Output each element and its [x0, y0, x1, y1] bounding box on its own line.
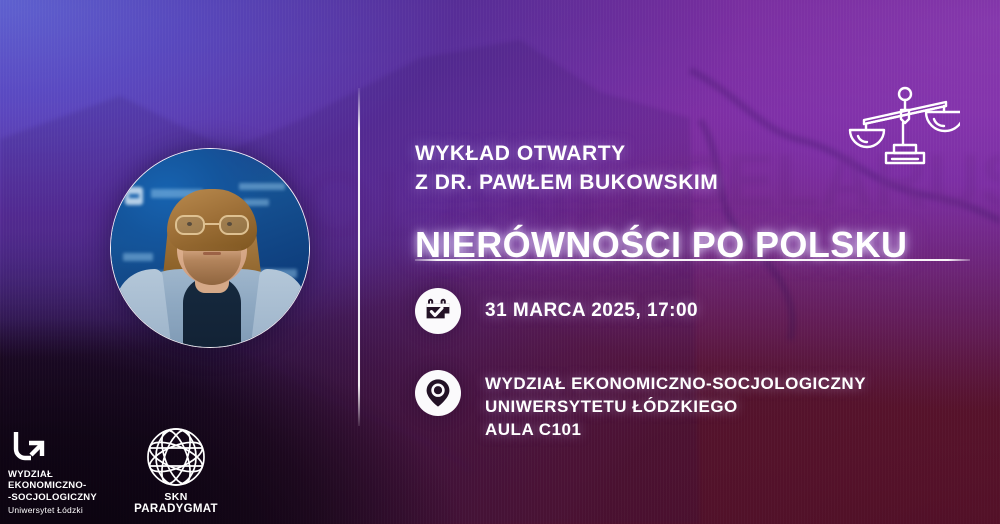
- calendar-check-icon: [415, 288, 461, 334]
- kicker-line-2: Z DR. PAWŁEM BUKOWSKIM: [415, 170, 718, 196]
- map-pin-icon: [415, 370, 461, 416]
- event-location-text: WYDZIAŁ EKONOMICZNO-SOCJOLOGICZNY UNIWER…: [485, 370, 866, 441]
- title-divider: [415, 259, 970, 261]
- event-poster: POLAND BELARUS: [0, 0, 1000, 524]
- location-line-2: UNIWERSYTETU ŁÓDZKIEGO: [485, 395, 866, 418]
- content-column: WYKŁAD OTWARTY Z DR. PAWŁEM BUKOWSKIM NI…: [415, 0, 975, 524]
- event-location-row: WYDZIAŁ EKONOMICZNO-SOCJOLOGICZNY UNIWER…: [415, 370, 866, 441]
- logo-bar: WYDZIAŁ EKONOMICZNO- -SOCJOLOGICZNY Uniw…: [8, 426, 222, 516]
- kicker-line-1: WYKŁAD OTWARTY: [415, 141, 626, 167]
- globe-wireframe-icon: [145, 426, 207, 488]
- uni-line-3: -SOCJOLOGICZNY: [8, 492, 104, 504]
- uni-subtitle: Uniwersytet Łódzki: [8, 505, 104, 516]
- skn-line-2: PARADYGMAT: [130, 503, 222, 516]
- vertical-divider: [358, 88, 360, 426]
- logo-skn-paradygmat: SKN PARADYGMAT: [130, 426, 222, 516]
- logo-university-lodz: WYDZIAŁ EKONOMICZNO- -SOCJOLOGICZNY Uniw…: [8, 429, 104, 517]
- event-date-row: 31 MARCA 2025, 17:00: [415, 288, 698, 334]
- skn-line-1: SKN: [130, 491, 222, 503]
- uni-line-1: WYDZIAŁ: [8, 469, 104, 481]
- event-date-text: 31 MARCA 2025, 17:00: [485, 288, 698, 322]
- portrait-subject: [111, 149, 309, 347]
- speaker-portrait: [110, 148, 310, 348]
- uni-line-2: EKONOMICZNO-: [8, 480, 104, 492]
- arrow-swoosh-icon: [12, 429, 46, 463]
- location-line-3: AULA C101: [485, 418, 866, 441]
- location-line-1: WYDZIAŁ EKONOMICZNO-SOCJOLOGICZNY: [485, 372, 866, 395]
